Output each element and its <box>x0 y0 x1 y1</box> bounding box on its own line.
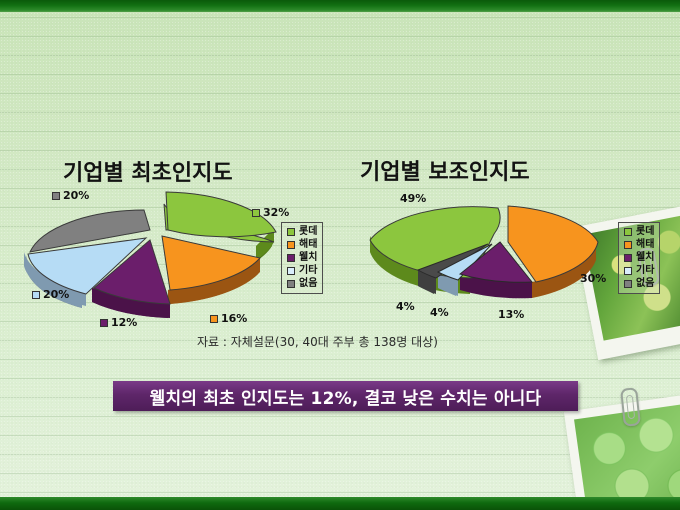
chart2-label-etc: 4% <box>430 306 449 319</box>
chart1-pie: 20% 20% 12% 16% 32% <box>20 190 280 320</box>
legend-item-etc: 기타 <box>624 266 654 276</box>
swatch-none-icon <box>624 280 632 288</box>
paperclip-icon <box>620 387 641 427</box>
swatch-lotte-icon <box>287 228 295 236</box>
chart1-title: 기업별 최초인지도 <box>63 155 233 187</box>
swatch-etc-icon <box>624 267 632 275</box>
legend-item-none: 없음 <box>287 279 317 289</box>
chart2-label-lotte: 49% <box>400 192 426 205</box>
legend-item-lotte: 롯데 <box>624 227 654 237</box>
top-border-bar <box>0 0 680 12</box>
source-note: 자료 : 자체설문(30, 40대 주부 총 138명 대상) <box>197 333 438 350</box>
swatch-welch-icon <box>624 254 632 262</box>
swatch-welch-icon <box>287 254 295 262</box>
chart2-label-none: 4% <box>396 300 415 313</box>
chart1-label-lotte: 32% <box>252 206 289 219</box>
conclusion-banner: 웰치의 최초 인지도는 12%, 결코 낮은 수치는 아니다 <box>113 381 578 411</box>
chart1-label-etc: 20% <box>32 288 69 301</box>
legend-item-haitai: 해태 <box>287 240 317 250</box>
chart1-label-none: 20% <box>52 189 89 202</box>
slide-canvas: 기업별 최초인지도 <box>0 0 680 510</box>
swatch-none-icon <box>52 192 60 200</box>
swatch-haitai-icon <box>210 315 218 323</box>
swatch-welch-icon <box>100 319 108 327</box>
swatch-lotte-icon <box>252 209 260 217</box>
chart2-legend: 롯데 해태 웰치 기타 없음 <box>618 222 660 294</box>
chart1-legend: 롯데 해태 웰치 기타 없음 <box>281 222 323 294</box>
chart2-pie: 49% 4% 4% 13% 30% <box>360 190 620 320</box>
chart2-title: 기업별 보조인지도 <box>360 154 530 186</box>
conclusion-banner-text: 웰치의 최초 인지도는 12%, 결코 낮은 수치는 아니다 <box>150 384 542 409</box>
legend-item-none: 없음 <box>624 279 654 289</box>
chart2-label-welch: 13% <box>498 308 524 321</box>
swatch-lotte-icon <box>624 228 632 236</box>
swatch-none-icon <box>287 280 295 288</box>
swatch-haitai-icon <box>287 241 295 249</box>
chart2-label-haitai: 30% <box>580 272 606 285</box>
chart1-label-haitai: 16% <box>210 312 247 325</box>
legend-item-welch: 웰치 <box>287 253 317 263</box>
legend-item-welch: 웰치 <box>624 253 654 263</box>
swatch-haitai-icon <box>624 241 632 249</box>
swatch-etc-icon <box>32 291 40 299</box>
legend-item-haitai: 해태 <box>624 240 654 250</box>
legend-item-etc: 기타 <box>287 266 317 276</box>
bottom-border-bar <box>0 497 680 510</box>
swatch-etc-icon <box>287 267 295 275</box>
legend-item-lotte: 롯데 <box>287 227 317 237</box>
chart1-label-welch: 12% <box>100 316 137 329</box>
